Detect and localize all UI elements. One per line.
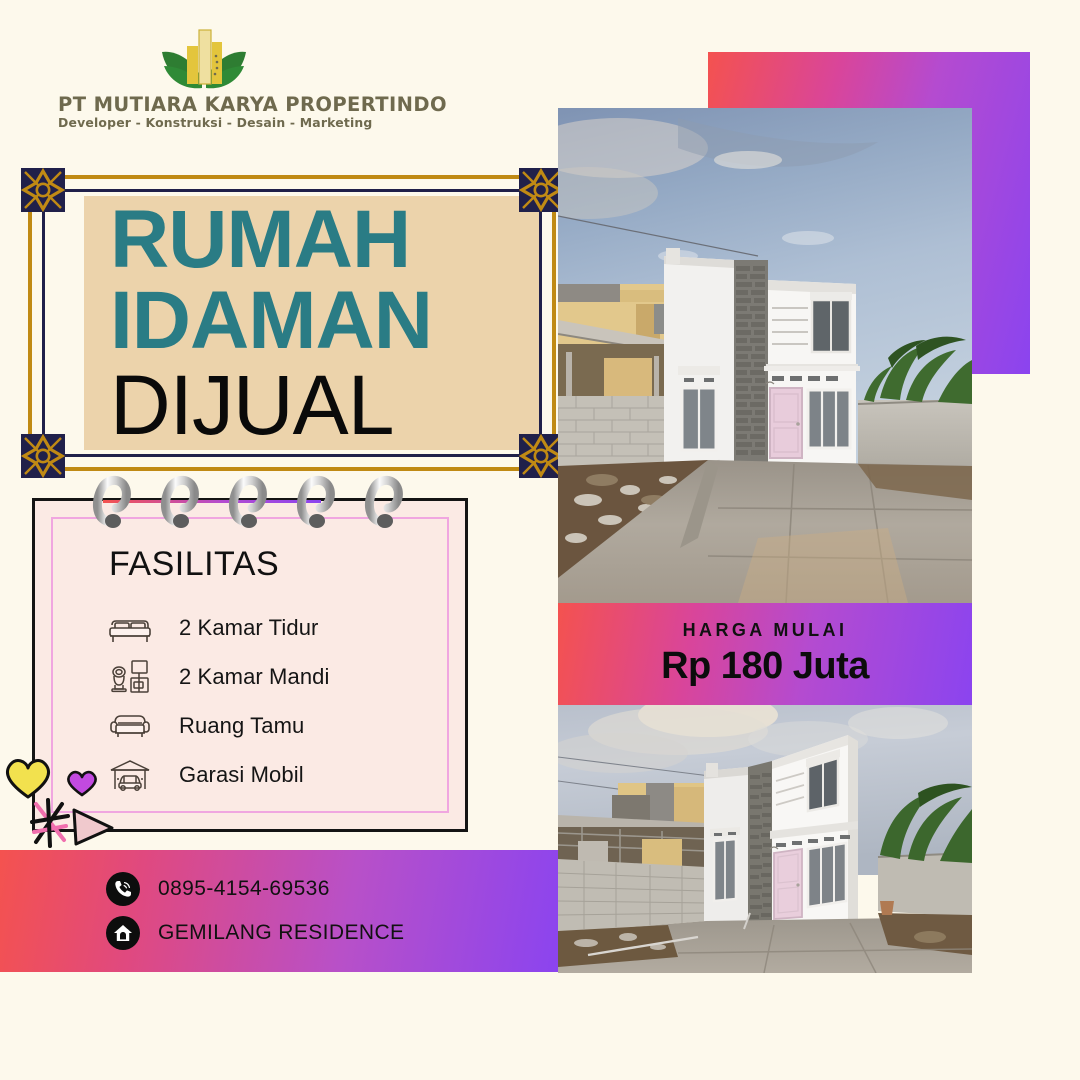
list-item-label: Garasi Mobil — [179, 762, 304, 788]
facilities-title: FASILITAS — [109, 545, 279, 584]
phone-icon — [106, 872, 140, 906]
building-leaf-logo-icon — [154, 22, 254, 94]
house-front-photo — [558, 108, 972, 603]
bed-icon — [105, 611, 155, 645]
contact-bar: 0895-4154-69536 GEMILANG RESIDENCE — [0, 850, 558, 972]
house-angle-photo — [558, 705, 972, 973]
headline-frame: RUMAH IDAMAN DIJUAL — [28, 175, 556, 471]
contact-row-location[interactable]: GEMILANG RESIDENCE — [106, 916, 404, 950]
facilities-list: 2 Kamar Tidur — [105, 603, 441, 799]
price-banner: HARGA MULAI Rp 180 Juta — [558, 603, 972, 705]
list-item: 2 Kamar Tidur — [105, 603, 441, 652]
list-item: Ruang Tamu — [105, 701, 441, 750]
company-name: PT MUTIARA KARYA PROPERTINDO — [58, 95, 350, 115]
headline-line-1: RUMAH — [110, 199, 539, 280]
company-tagline: Developer - Konstruksi - Desain - Market… — [58, 116, 350, 130]
garage-car-icon — [105, 757, 155, 793]
contact-row-phone[interactable]: 0895-4154-69536 — [106, 872, 330, 906]
bathroom-icon — [105, 658, 155, 696]
geometric-star-ornament-icon — [20, 433, 66, 479]
residence-name: GEMILANG RESIDENCE — [158, 921, 404, 945]
headline-panel: RUMAH IDAMAN DIJUAL — [84, 196, 539, 450]
list-item-label: 2 Kamar Tidur — [179, 615, 318, 641]
company-logo: PT MUTIARA KARYA PROPERTINDO Developer -… — [58, 22, 350, 134]
list-item: 2 Kamar Mandi — [105, 652, 441, 701]
flyer-canvas: PT MUTIARA KARYA PROPERTINDO Developer -… — [0, 0, 1080, 1080]
headline-line-3: DIJUAL — [110, 363, 539, 447]
list-item-label: 2 Kamar Mandi — [179, 664, 329, 690]
headline-line-2: IDAMAN — [110, 280, 539, 361]
list-item-label: Ruang Tamu — [179, 713, 304, 739]
phone-number: 0895-4154-69536 — [158, 877, 330, 901]
list-item: Garasi Mobil — [105, 750, 441, 799]
yellow-heart-doodle-icon — [2, 756, 54, 800]
price-kicker: HARGA MULAI — [683, 620, 848, 641]
notepad-gradient-line — [103, 500, 321, 503]
geometric-star-ornament-icon — [20, 167, 66, 213]
home-icon — [106, 916, 140, 950]
pink-triangle-cursor-doodle-icon — [68, 806, 116, 848]
price-value: Rp 180 Juta — [661, 645, 869, 688]
purple-heart-doodle-icon — [64, 768, 100, 798]
sofa-icon — [105, 711, 155, 741]
